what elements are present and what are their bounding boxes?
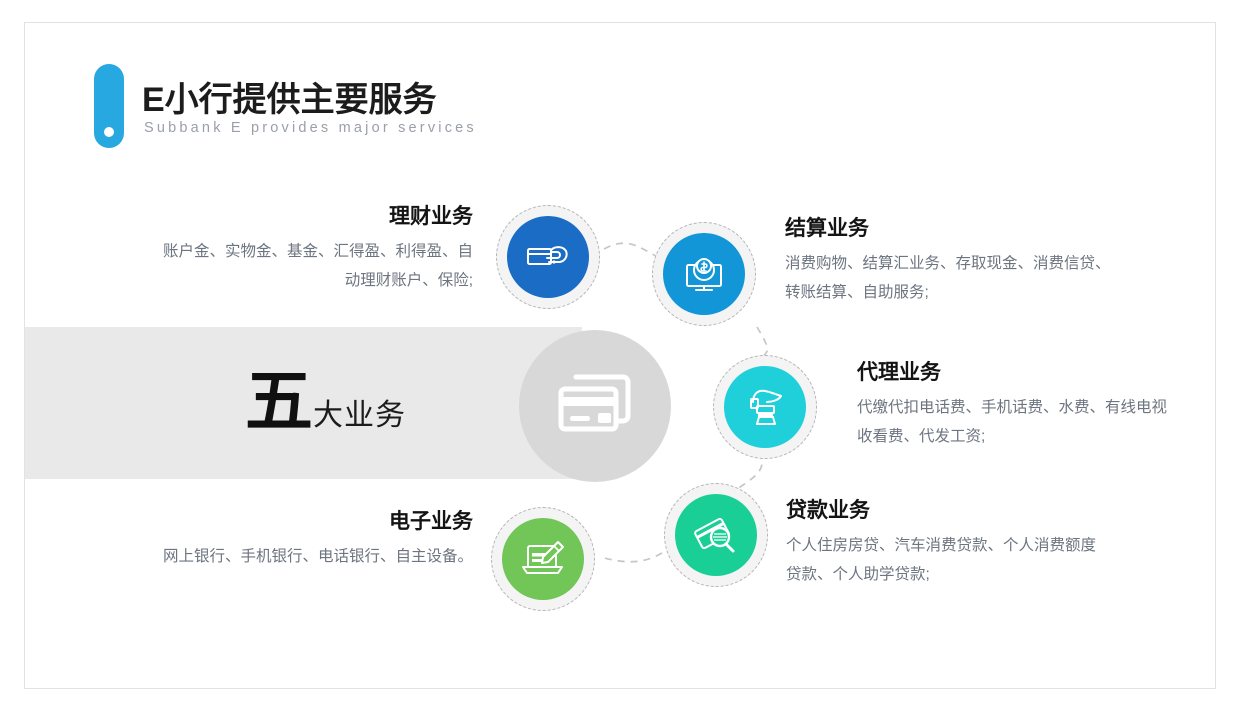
header-accent-bar: [94, 64, 124, 148]
node-disc: [507, 216, 589, 298]
node-disc: [724, 366, 806, 448]
card-magnifier-icon: [694, 515, 738, 555]
hand-card-icon: [525, 240, 571, 274]
service-title: 结算业务: [785, 216, 1115, 242]
monitor-coin-icon: [683, 254, 725, 294]
service-node-0[interactable]: [496, 205, 600, 309]
service-title: 代理业务: [857, 360, 1177, 386]
center-count-suffix: 大业务: [313, 399, 406, 432]
slide-canvas: E小行提供主要服务 Subbank E provides major servi…: [0, 0, 1240, 711]
service-description: 个人住房房贷、汽车消费贷款、个人消费额度贷款、个人助学贷款;: [786, 532, 1106, 589]
header-accent-dot: [104, 127, 114, 137]
service-title: 电子业务: [155, 509, 473, 535]
node-disc: [502, 518, 584, 600]
service-text-3: 贷款业务 个人住房房贷、汽车消费贷款、个人消费额度贷款、个人助学贷款;: [786, 498, 1106, 590]
service-node-4[interactable]: [491, 507, 595, 611]
page-subtitle: Subbank E provides major services: [144, 120, 477, 136]
node-disc: [663, 233, 745, 315]
service-description: 网上银行、手机银行、电话银行、自主设备。: [155, 543, 473, 572]
laptop-pencil-icon: [520, 540, 566, 578]
service-description: 账户金、实物金、基金、汇得盈、利得盈、自动理财账户、保险;: [155, 238, 473, 295]
service-node-2[interactable]: [713, 355, 817, 459]
center-count-label: 五大业务: [245, 368, 406, 436]
service-description: 代缴代扣电话费、手机话费、水费、有线电视收看费、代发工资;: [857, 394, 1177, 451]
center-circle: [519, 330, 671, 482]
service-text-2: 代理业务 代缴代扣电话费、手机话费、水费、有线电视收看费、代发工资;: [857, 360, 1177, 452]
hand-pos-terminal-icon: [745, 386, 785, 428]
credit-cards-icon: [552, 367, 638, 446]
service-description: 消费购物、结算汇业务、存取现金、消费信贷、转账结算、自助服务;: [785, 250, 1115, 307]
node-disc: [675, 494, 757, 576]
service-title: 理财业务: [155, 204, 473, 230]
page-title: E小行提供主要服务: [142, 72, 437, 121]
service-text-4: 电子业务 网上银行、手机银行、电话银行、自主设备。: [155, 509, 473, 572]
center-count-number: 五: [245, 364, 313, 440]
service-text-1: 结算业务 消费购物、结算汇业务、存取现金、消费信贷、转账结算、自助服务;: [785, 216, 1115, 308]
service-node-3[interactable]: [664, 483, 768, 587]
service-title: 贷款业务: [786, 498, 1106, 524]
service-text-0: 理财业务 账户金、实物金、基金、汇得盈、利得盈、自动理财账户、保险;: [155, 204, 473, 296]
service-node-1[interactable]: [652, 222, 756, 326]
